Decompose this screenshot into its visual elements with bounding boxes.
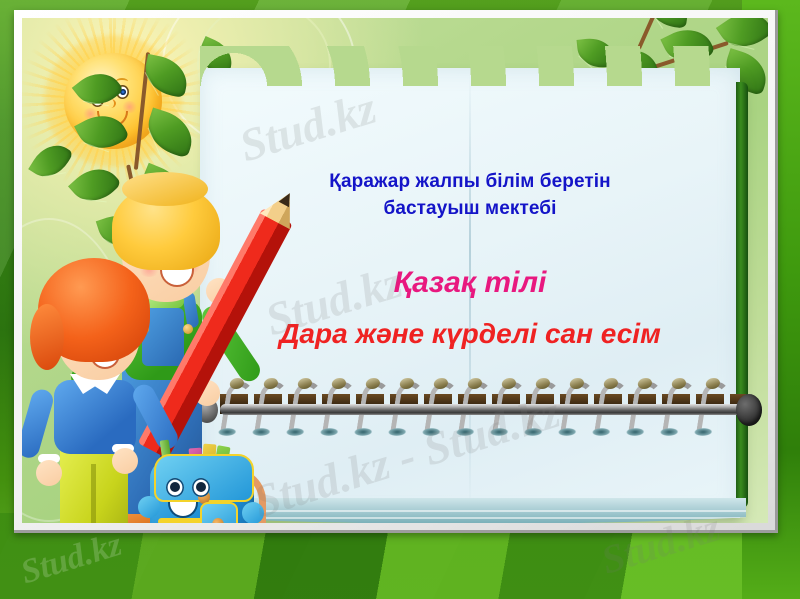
children-illustration <box>40 148 290 523</box>
backpack-eye-left <box>166 478 184 497</box>
spiral-binding <box>220 380 746 444</box>
backpack-eye-right <box>192 478 210 497</box>
backpack-hand-right <box>242 502 264 523</box>
backpack-character <box>144 444 262 523</box>
girl-red-hair <box>38 258 150 362</box>
backpack-hand-left <box>138 496 160 518</box>
spiral-rod-cap-right <box>736 394 762 426</box>
girl-hand-right <box>112 448 138 474</box>
scene-background: Қаражар жалпы білім беретін бастауыш мек… <box>22 18 768 523</box>
girl-hand-left <box>36 460 62 486</box>
boy-button-right <box>183 324 193 334</box>
spiral-rod <box>220 404 746 415</box>
presentation-slide: Қаражар жалпы білім беретін бастауыш мек… <box>0 0 800 599</box>
girl-blue-top <box>54 380 136 454</box>
